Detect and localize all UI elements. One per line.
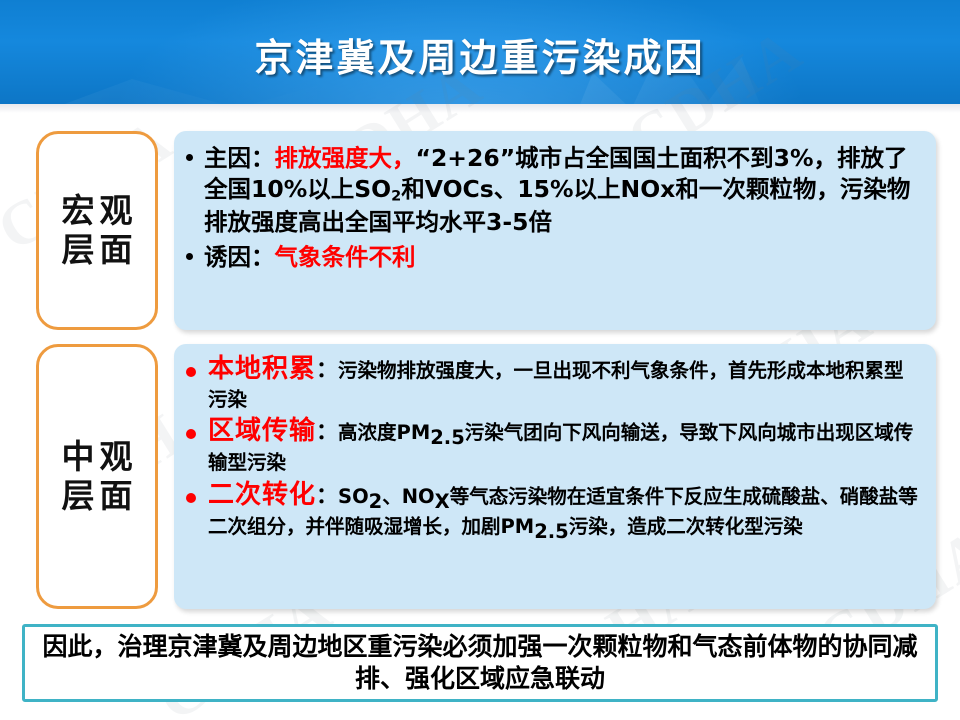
list-item: 区域传输：高浓度PM2.5污染气团向下风向输送，导致下风向城市出现区域传输型污染 — [186, 415, 920, 476]
subscript-nox: X — [435, 490, 450, 513]
conclusion-text: 因此，治理京津冀及周边地区重污染必须加强一次颗粒物和气态前体物的协同减排、强化区… — [25, 631, 935, 695]
subscript-pm25: 2.5 — [430, 426, 465, 449]
bullet-content: 区域传输：高浓度PM2.5污染气团向下风向输送，导致下风向城市出现区域传输型污染 — [208, 415, 920, 476]
page-title: 京津冀及周边重污染成因 — [0, 27, 960, 82]
list-item: 诱因：气象条件不利 — [186, 242, 920, 273]
section-label-meso: 中观 层面 — [36, 344, 158, 609]
bullet-colon: ： — [316, 358, 338, 383]
bullet-content: 诱因：气象条件不利 — [204, 242, 920, 273]
subscript-so2: 2 — [369, 490, 383, 513]
section-macro: 宏观 层面 主因：排放强度大，“2+26”城市占全国国土面积不到3%，排放了全国… — [36, 131, 936, 330]
subscript-so2: 2 — [391, 188, 401, 205]
conclusion-box: 因此，治理京津冀及周边地区重污染必须加强一次颗粒物和气态前体物的协同减排、强化区… — [22, 624, 938, 702]
bullet-lead: 区域传输 — [208, 416, 316, 446]
bullet-dot-icon — [186, 154, 202, 161]
bullet-highlight: 排放强度大， — [275, 144, 416, 172]
bullet-lead: 本地积累 — [208, 354, 316, 384]
section-panel-macro: 主因：排放强度大，“2+26”城市占全国国土面积不到3%，排放了全国10%以上S… — [174, 131, 936, 330]
bullet-detail-part1: SO — [338, 485, 369, 508]
header-divider — [0, 104, 960, 113]
bullet-detail-part1: 高浓度PM — [338, 421, 430, 444]
bullet-content: 主因：排放强度大，“2+26”城市占全国国土面积不到3%，排放了全国10%以上S… — [204, 143, 920, 238]
bullet-content: 二次转化：SO2、NOX等气态污染物在适宜条件下反应生成硫酸盐、硝酸盐等二次组分… — [208, 479, 920, 544]
section-meso: 中观 层面 本地积累：污染物排放强度大，一旦出现不利气象条件，首先形成本地积累型… — [36, 344, 936, 609]
slide-header: 京津冀及周边重污染成因 — [0, 0, 960, 104]
subscript-pm25: 2.5 — [534, 520, 569, 543]
bullet-prefix: 诱因： — [204, 243, 275, 271]
bullet-highlight: 气象条件不利 — [275, 243, 416, 271]
bullet-detail-part4: 污染，造成二次转化型污染 — [569, 515, 803, 538]
bullet-detail-part2: 、NO — [382, 485, 434, 508]
bullet-dot-icon — [186, 493, 206, 503]
section-label-line-1: 宏观 — [57, 192, 138, 231]
bullet-lead: 二次转化 — [208, 480, 316, 510]
section-label-line-2: 层面 — [57, 477, 138, 516]
bullet-content: 本地积累：污染物排放强度大，一旦出现不利气象条件，首先形成本地积累型污染 — [208, 353, 920, 412]
bullet-dot-icon — [186, 253, 202, 260]
bullet-dot-icon — [186, 429, 206, 439]
list-item: 二次转化：SO2、NOX等气态污染物在适宜条件下反应生成硫酸盐、硝酸盐等二次组分… — [186, 479, 920, 544]
section-panel-meso: 本地积累：污染物排放强度大，一旦出现不利气象条件，首先形成本地积累型污染 区域传… — [174, 344, 936, 609]
section-label-line-2: 层面 — [57, 231, 138, 270]
section-label-macro: 宏观 层面 — [36, 131, 158, 330]
list-item: 主因：排放强度大，“2+26”城市占全国国土面积不到3%，排放了全国10%以上S… — [186, 143, 920, 238]
section-label-line-1: 中观 — [57, 438, 138, 477]
bullet-colon: ： — [316, 420, 338, 445]
bullet-prefix: 主因： — [204, 144, 275, 172]
bullet-colon: ： — [316, 484, 338, 509]
list-item: 本地积累：污染物排放强度大，一旦出现不利气象条件，首先形成本地积累型污染 — [186, 353, 920, 412]
bullet-dot-icon — [186, 367, 206, 377]
